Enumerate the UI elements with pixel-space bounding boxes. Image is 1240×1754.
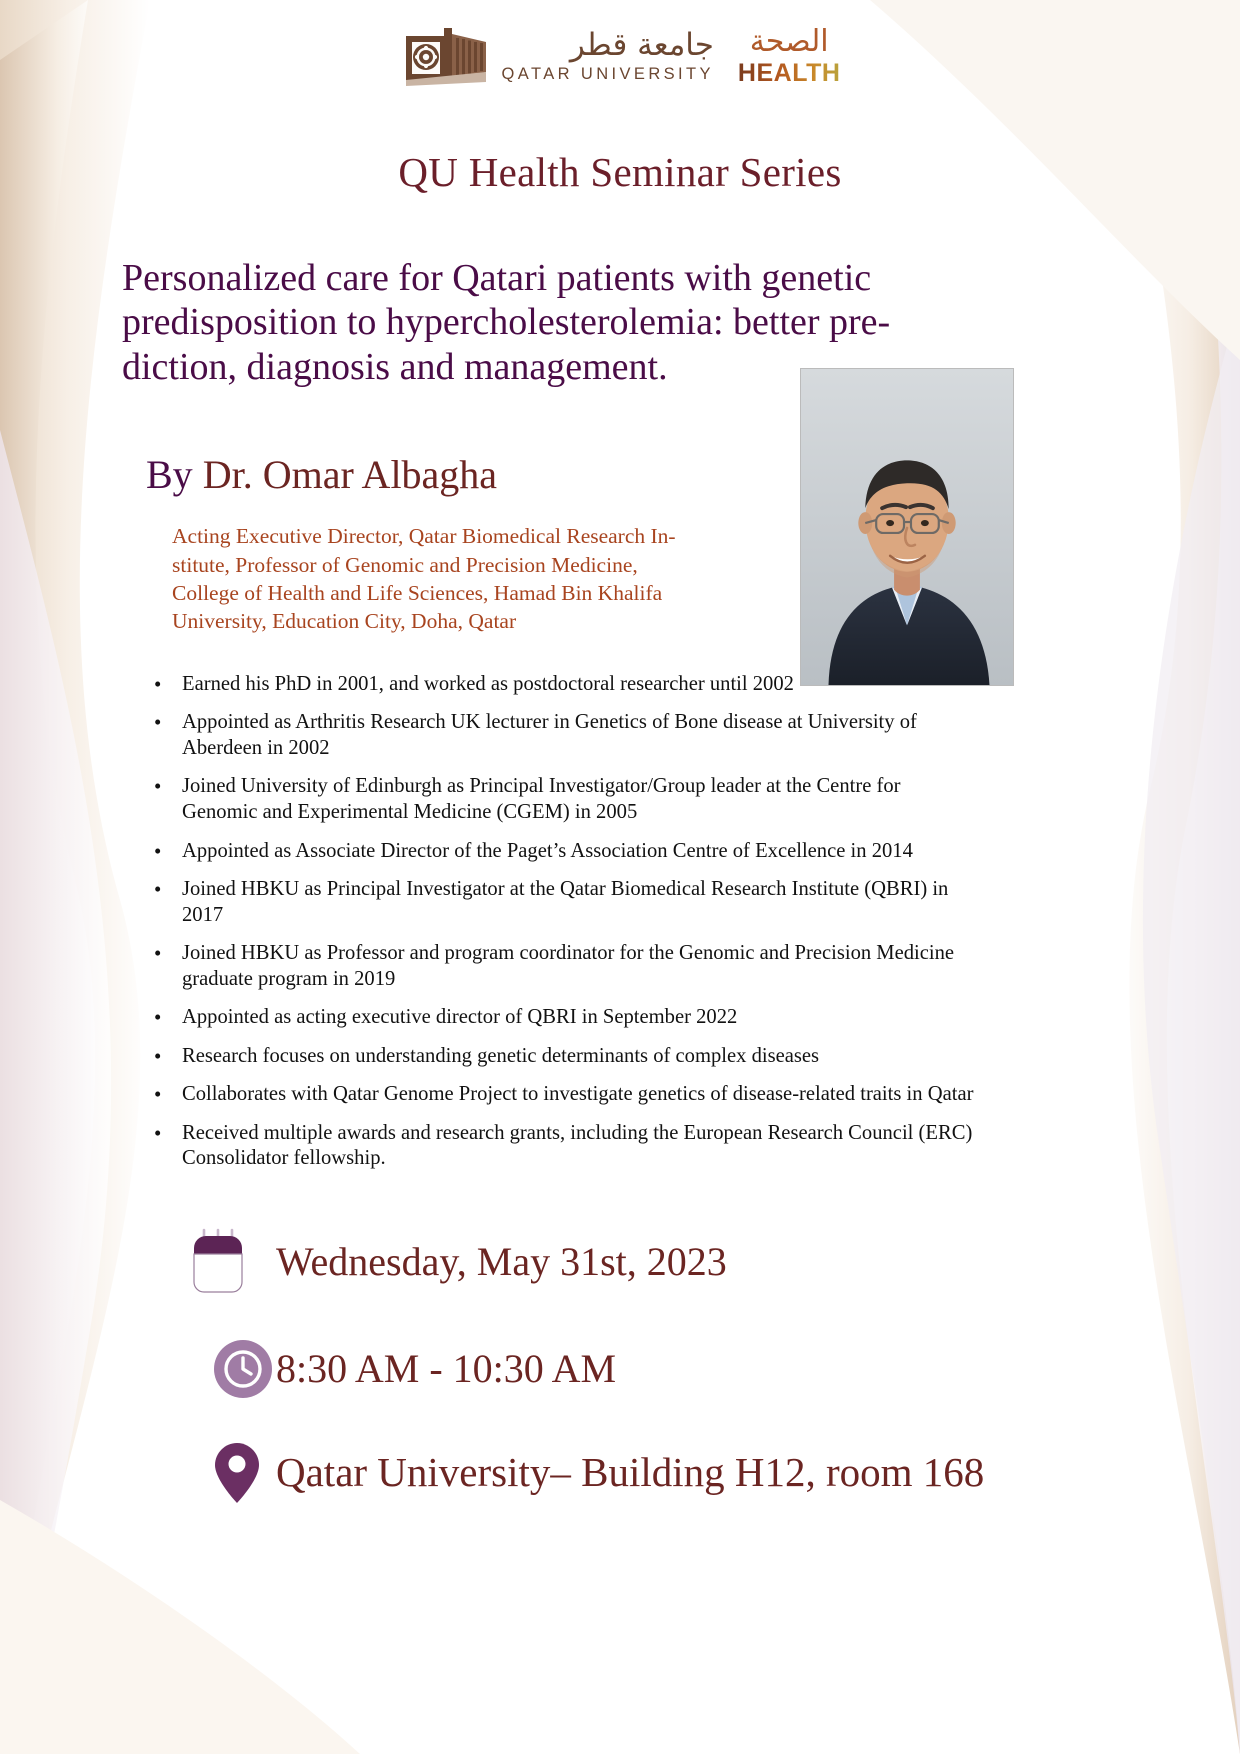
event-time-row: 8:30 AM - 10:30 AM bbox=[190, 1340, 1240, 1398]
list-item: Appointed as Associate Director of the P… bbox=[150, 839, 980, 865]
talk-title-line-2: predisposition to hypercholesterolemia: … bbox=[122, 300, 962, 344]
bio-bullet-list: Earned his PhD in 2001, and worked as po… bbox=[150, 672, 980, 1172]
event-time-text: 8:30 AM - 10:30 AM bbox=[276, 1349, 616, 1389]
calendar-icon bbox=[190, 1228, 246, 1296]
event-location-text: Qatar University– Building H12, room 168 bbox=[276, 1452, 984, 1493]
health-logo-arabic: الصحة bbox=[750, 27, 829, 57]
list-item: Joined HBKU as Principal Investigator at… bbox=[150, 877, 980, 928]
poster: جامعة قطر QATAR UNIVERSITY الصحة HEALTH … bbox=[0, 0, 1240, 1754]
event-date-row: Wednesday, May 31st, 2023 bbox=[190, 1228, 1240, 1296]
talk-title-line-1: Personalized care for Qatari patients wi… bbox=[122, 256, 962, 300]
speaker-prefix: By bbox=[146, 452, 203, 497]
list-item: Collaborates with Qatar Genome Project t… bbox=[150, 1082, 980, 1108]
speaker-portrait bbox=[800, 368, 1014, 686]
list-item: Joined University of Edinburgh as Princi… bbox=[150, 774, 980, 825]
list-item: Appointed as Arthritis Research UK lectu… bbox=[150, 710, 980, 761]
list-item: Appointed as acting executive director o… bbox=[150, 1005, 980, 1031]
qatar-university-building-icon bbox=[400, 24, 492, 88]
speaker-line: By Dr. Omar Albagha bbox=[146, 451, 1240, 498]
health-logo-english: HEALTH bbox=[738, 61, 841, 86]
qu-health-logo: الصحة HEALTH bbox=[738, 27, 841, 86]
list-item: Earned his PhD in 2001, and worked as po… bbox=[150, 672, 980, 698]
list-item: Received multiple awards and research gr… bbox=[150, 1121, 980, 1172]
affiliation-line-1: Acting Executive Director, Qatar Biomedi… bbox=[172, 522, 797, 550]
qu-logo-english: QATAR UNIVERSITY bbox=[502, 66, 714, 83]
poster-header: جامعة قطر QATAR UNIVERSITY الصحة HEALTH bbox=[0, 0, 1240, 96]
speaker-affiliation: Acting Executive Director, Qatar Biomedi… bbox=[172, 522, 797, 636]
qatar-university-logo: جامعة قطر QATAR UNIVERSITY bbox=[400, 24, 714, 88]
affiliation-line-2: stitute, Professor of Genomic and Precis… bbox=[172, 551, 797, 579]
clock-icon bbox=[214, 1340, 272, 1398]
list-item: Research focuses on understanding geneti… bbox=[150, 1044, 980, 1070]
series-title: QU Health Seminar Series bbox=[0, 148, 1240, 196]
affiliation-line-3: College of Health and Life Sciences, Ham… bbox=[172, 579, 797, 607]
event-date-text: Wednesday, May 31st, 2023 bbox=[276, 1242, 727, 1282]
list-item: Joined HBKU as Professor and program coo… bbox=[150, 941, 980, 992]
qu-logo-arabic: جامعة قطر bbox=[570, 30, 714, 61]
speaker-name: Dr. Omar Albagha bbox=[203, 452, 497, 497]
event-location-row: Qatar University– Building H12, room 168 bbox=[190, 1442, 1240, 1504]
event-details: Wednesday, May 31st, 2023 8:30 AM - 10:3… bbox=[190, 1228, 1240, 1504]
affiliation-line-4: University, Education City, Doha, Qatar bbox=[172, 607, 797, 635]
location-pin-icon bbox=[214, 1442, 260, 1504]
